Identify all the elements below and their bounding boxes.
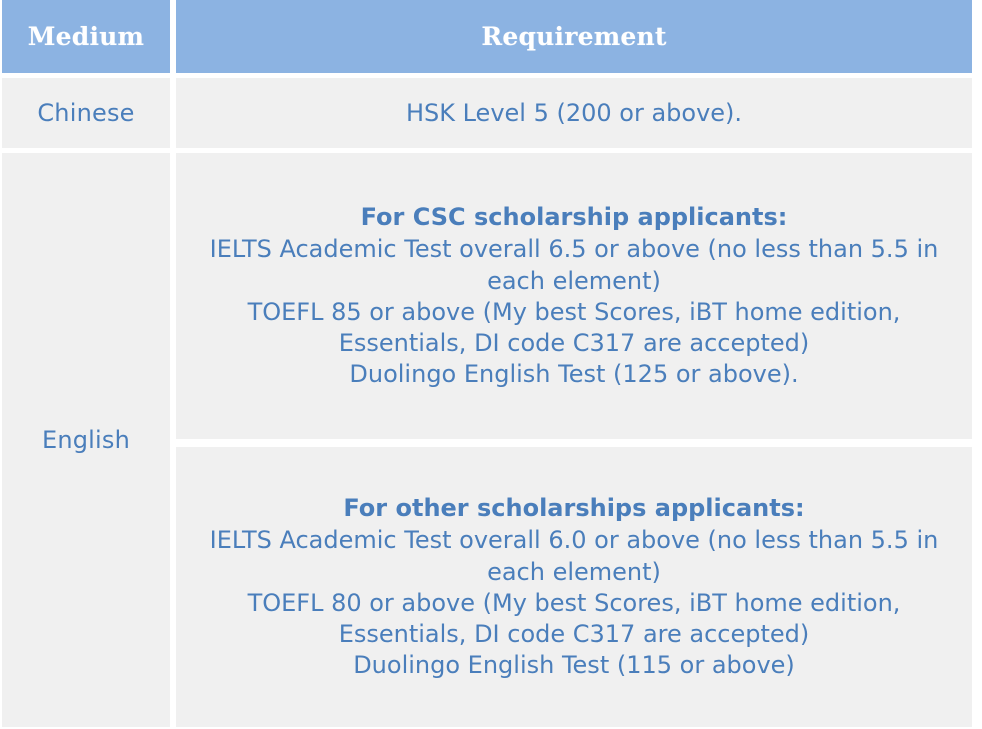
cell-requirement-english: For CSC scholarship applicants: IELTS Ac… xyxy=(176,153,972,727)
column-header-medium: Medium xyxy=(2,0,170,73)
requirement-line-csc-duolingo: Duolingo English Test (125 or above). xyxy=(349,359,798,390)
cell-medium-chinese: Chinese xyxy=(2,78,170,148)
requirements-table: Medium Requirement Chinese HSK Level 5 (… xyxy=(2,0,972,727)
requirement-line-other-ielts: IELTS Academic Test overall 6.0 or above… xyxy=(194,525,954,587)
requirement-line-csc-toefl: TOEFL 85 or above (My best Scores, iBT h… xyxy=(194,297,954,359)
language-requirement-table: Medium Requirement Chinese HSK Level 5 (… xyxy=(2,0,972,727)
requirement-block-csc: For CSC scholarship applicants: IELTS Ac… xyxy=(176,153,972,439)
requirement-line-other-toefl: TOEFL 80 or above (My best Scores, iBT h… xyxy=(194,588,954,650)
table-header-row: Medium Requirement xyxy=(2,0,972,73)
requirement-heading-other: For other scholarships applicants: xyxy=(343,493,804,524)
requirement-block-other: For other scholarships applicants: IELTS… xyxy=(176,447,972,727)
table-row-english: English For CSC scholarship applicants: … xyxy=(2,153,972,727)
cell-requirement-chinese: HSK Level 5 (200 or above). xyxy=(176,78,972,148)
requirement-line-csc-ielts: IELTS Academic Test overall 6.5 or above… xyxy=(194,234,954,296)
column-header-requirement: Requirement xyxy=(176,0,972,73)
cell-medium-english: English xyxy=(2,153,170,727)
table-row-chinese: Chinese HSK Level 5 (200 or above). xyxy=(2,78,972,148)
requirement-line-other-duolingo: Duolingo English Test (115 or above) xyxy=(353,650,795,681)
requirement-heading-csc: For CSC scholarship applicants: xyxy=(361,202,788,233)
